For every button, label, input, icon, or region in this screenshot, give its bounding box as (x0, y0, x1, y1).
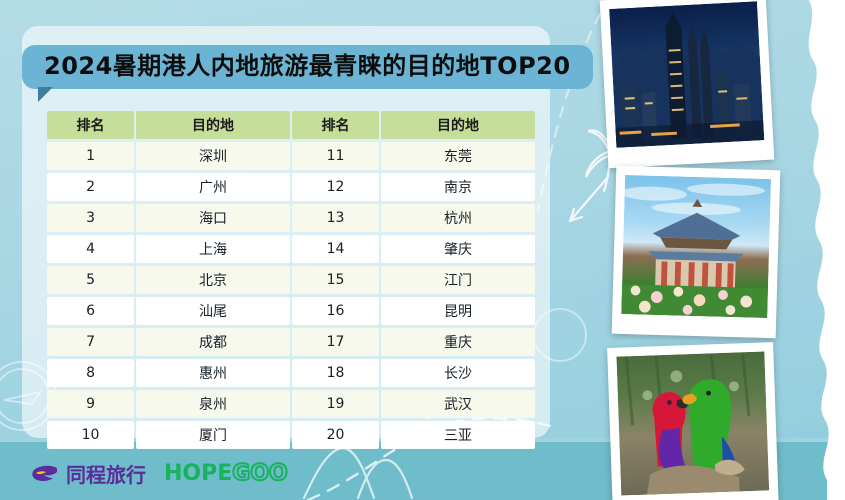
table-row: 3海口13杭州 (47, 204, 535, 232)
photo-eclectus-parrots (607, 342, 779, 500)
table-row: 6汕尾16昆明 (47, 297, 535, 325)
photo-sun-yat-sen-memorial-hall (612, 166, 781, 339)
photo-hall-image (621, 175, 771, 318)
cell-rank-left: 9 (47, 390, 134, 418)
cell-rank-right: 15 (292, 266, 379, 294)
cell-dest-left: 泉州 (136, 390, 290, 418)
cell-rank-left: 10 (47, 421, 134, 449)
cell-rank-left: 6 (47, 297, 134, 325)
cell-dest-right: 重庆 (381, 328, 535, 356)
cell-rank-right: 16 (292, 297, 379, 325)
cell-dest-right: 肇庆 (381, 235, 535, 263)
cell-rank-right: 19 (292, 390, 379, 418)
cell-rank-left: 2 (47, 173, 134, 201)
table-row: 4上海14肇庆 (47, 235, 535, 263)
cell-dest-right: 三亚 (381, 421, 535, 449)
table-row: 2广州12南京 (47, 173, 535, 201)
cell-dest-right: 武汉 (381, 390, 535, 418)
photo-shenzhen-image (609, 1, 764, 148)
table-body: 1深圳11东莞2广州12南京3海口13杭州4上海14肇庆5北京15江门6汕尾16… (47, 142, 535, 449)
header-rank-left: 排名 (47, 111, 134, 139)
photo-shenzhen-skyline-night (600, 0, 775, 168)
cell-rank-left: 8 (47, 359, 134, 387)
tongcheng-label: 同程旅行 (66, 459, 146, 488)
table-row: 1深圳11东莞 (47, 142, 535, 170)
table-row: 8惠州18长沙 (47, 359, 535, 387)
table-row: 5北京15江门 (47, 266, 535, 294)
cell-rank-right: 12 (292, 173, 379, 201)
cell-dest-left: 广州 (136, 173, 290, 201)
destination-ranking-table: 排名 目的地 排名 目的地 1深圳11东莞2广州12南京3海口13杭州4上海14… (45, 108, 537, 452)
cell-rank-right: 11 (292, 142, 379, 170)
cell-rank-right: 18 (292, 359, 379, 387)
cell-dest-left: 惠州 (136, 359, 290, 387)
cell-rank-right: 17 (292, 328, 379, 356)
cell-rank-left: 5 (47, 266, 134, 294)
cell-dest-left: 厦门 (136, 421, 290, 449)
cell-dest-left: 上海 (136, 235, 290, 263)
cell-rank-left: 1 (47, 142, 134, 170)
cell-rank-left: 3 (47, 204, 134, 232)
cell-dest-right: 昆明 (381, 297, 535, 325)
cell-rank-right: 13 (292, 204, 379, 232)
cell-rank-right: 20 (292, 421, 379, 449)
photo-parrots-image (616, 351, 769, 495)
table-header-row: 排名 目的地 排名 目的地 (47, 111, 535, 139)
torn-paper-edge (779, 0, 845, 500)
cell-dest-left: 汕尾 (136, 297, 290, 325)
title-banner-wrap: 2024暑期港人内地旅游最青睐的目的地TOP20 (22, 45, 593, 89)
poster-canvas: 2024暑期港人内地旅游最青睐的目的地TOP20 排名 目的地 排名 目的地 1… (0, 0, 845, 500)
banner-tail (38, 87, 53, 102)
table-row: 7成都17重庆 (47, 328, 535, 356)
tongcheng-bird-icon (30, 464, 60, 484)
cell-rank-left: 4 (47, 235, 134, 263)
cell-dest-left: 深圳 (136, 142, 290, 170)
header-dest-left: 目的地 (136, 111, 290, 139)
header-dest-right: 目的地 (381, 111, 535, 139)
header-rank-right: 排名 (292, 111, 379, 139)
page-title: 2024暑期港人内地旅游最青睐的目的地TOP20 (44, 54, 571, 78)
cell-dest-left: 北京 (136, 266, 290, 294)
cell-dest-right: 长沙 (381, 359, 535, 387)
hopegoo-logo: HOPEGOO (164, 461, 288, 486)
hopegoo-outline-text: GOO (232, 461, 287, 486)
cell-dest-right: 江门 (381, 266, 535, 294)
cell-dest-left: 成都 (136, 328, 290, 356)
cell-rank-left: 7 (47, 328, 134, 356)
tongcheng-logo: 同程旅行 (30, 459, 146, 488)
cell-dest-right: 东莞 (381, 142, 535, 170)
table-row: 9泉州19武汉 (47, 390, 535, 418)
cell-dest-left: 海口 (136, 204, 290, 232)
cell-rank-right: 14 (292, 235, 379, 263)
cell-dest-right: 南京 (381, 173, 535, 201)
hopegoo-solid-text: HOPE (164, 461, 232, 486)
title-banner: 2024暑期港人内地旅游最青睐的目的地TOP20 (22, 45, 593, 89)
cell-dest-right: 杭州 (381, 204, 535, 232)
footer-logos: 同程旅行 HOPEGOO (30, 459, 288, 488)
table-row: 10厦门20三亚 (47, 421, 535, 449)
